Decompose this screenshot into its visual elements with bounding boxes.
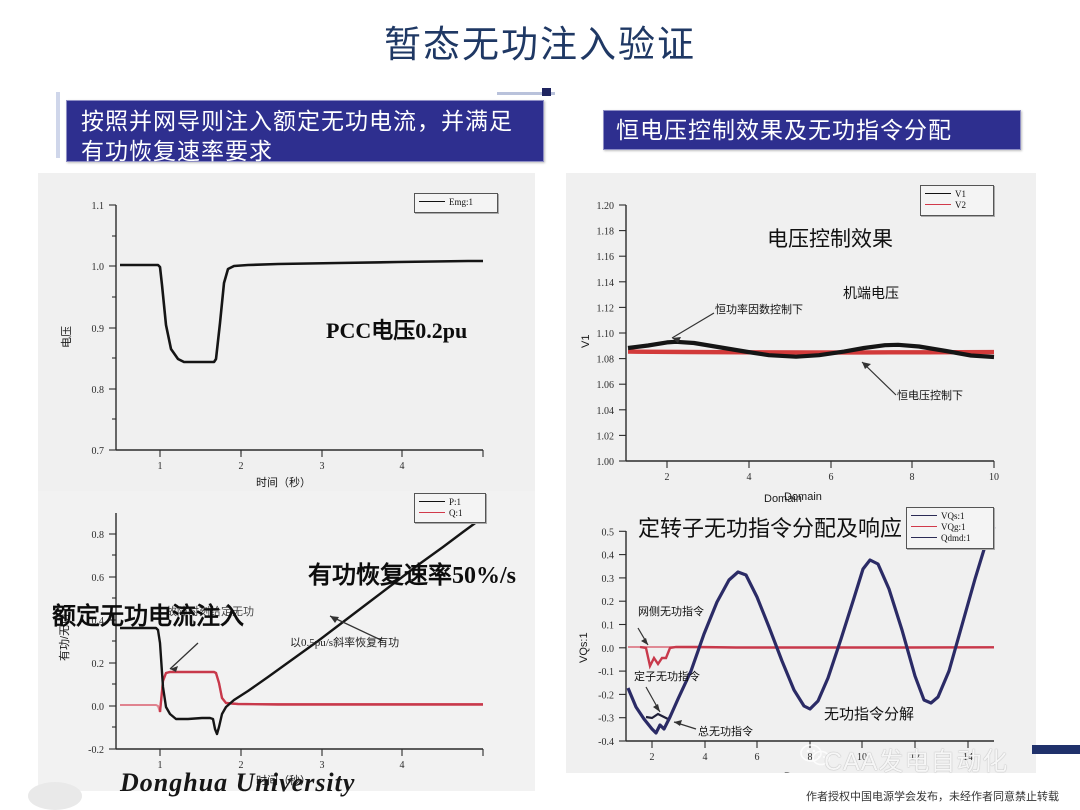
svg-text:-0.2: -0.2 (88, 745, 104, 756)
legend-label-v2: V2 (955, 200, 966, 210)
chart-terminal-voltage-title: 电压控制效果 (767, 223, 893, 253)
banner-left: 按照并网导则注入额定无功电流，并满足有功恢复速率要求 (66, 100, 544, 162)
annotation-ramp-rate: 以0.5pu/s斜率恢复有功 (290, 634, 399, 650)
chart-pq-recovery-svg: -0.2 0.0 0.2 0.4 0.6 0.8 1 2 3 4 (38, 491, 535, 791)
svg-text:0.8: 0.8 (92, 530, 105, 541)
svg-text:0.8: 0.8 (92, 385, 105, 396)
svg-text:4: 4 (703, 752, 708, 763)
legend-label-qdmd: Qdmd:1 (941, 533, 971, 543)
svg-text:1.02: 1.02 (597, 431, 615, 442)
legend-swatch-vqs (911, 515, 937, 516)
legend-label-vqg: VQg:1 (941, 522, 966, 532)
copyright-note: 作者授权中国电源学会发布，未经作者同意禁止转载 (806, 788, 1059, 804)
chart-pcc-voltage-legend[interactable]: Emg:1 (414, 193, 498, 213)
svg-text:4: 4 (400, 461, 405, 472)
chart-pq-recovery-legend[interactable]: P:1 Q:1 (414, 493, 486, 523)
legend-swatch-vqg (911, 526, 937, 527)
svg-text:0.3: 0.3 (602, 574, 615, 585)
svg-text:1.14: 1.14 (597, 278, 615, 289)
svg-text:0.7: 0.7 (92, 446, 105, 457)
chart-q-command-legend[interactable]: VQs:1 VQg:1 Qdmd:1 (906, 507, 994, 549)
svg-text:4: 4 (747, 472, 752, 483)
annotation-rated-q-injection: 额定无功电流注入 (52, 596, 244, 631)
annotation-active-recovery-rate: 有功恢复速率50%/s (308, 555, 516, 590)
annotation-const-pf-control: 恒功率因数控制下 (715, 301, 803, 317)
annotation-terminal-voltage: 机端电压 (843, 283, 899, 303)
university-logo-text: Donghua University (120, 768, 355, 798)
svg-text:0.0: 0.0 (92, 702, 105, 713)
chart-q-command-title: 定转子无功指令分配及响应 (638, 511, 902, 543)
svg-text:1.18: 1.18 (597, 227, 615, 238)
watermark-text: CAA发电自动化 (824, 742, 1008, 778)
svg-text:0.1: 0.1 (602, 621, 615, 632)
legend-swatch-qdmd (911, 537, 937, 538)
svg-text:8: 8 (910, 472, 915, 483)
svg-text:4: 4 (400, 760, 405, 771)
annotation-total-q-cmd: 总无功指令 (698, 723, 753, 739)
slide-root: 暂态无功注入验证 按照并网导则注入额定无功电流，并满足有功恢复速率要求 恒电压控… (0, 0, 1080, 810)
legend-label-emg: Emg:1 (449, 197, 473, 207)
chart-pcc-voltage-ylabel: 电压 (58, 326, 74, 348)
svg-text:1.0: 1.0 (92, 262, 105, 273)
banner-left-accent (56, 92, 60, 158)
legend-label-vqs: VQs:1 (941, 511, 965, 521)
annotation-stator-q-cmd: 定子无功指令 (634, 668, 700, 684)
svg-text:2: 2 (665, 472, 670, 483)
svg-text:0.9: 0.9 (92, 324, 105, 335)
svg-text:1.16: 1.16 (597, 252, 615, 263)
legend-swatch-v2 (925, 204, 951, 205)
svg-text:10: 10 (989, 472, 999, 483)
svg-text:1.1: 1.1 (92, 201, 105, 212)
chart-pcc-voltage-xlabel: 时间（秒） (256, 474, 311, 490)
svg-text:1.08: 1.08 (597, 355, 615, 366)
svg-text:-0.2: -0.2 (598, 690, 614, 701)
legend-swatch-q (419, 512, 445, 513)
legend-swatch-emg (419, 201, 445, 202)
svg-text:0.2: 0.2 (602, 597, 615, 608)
legend-label-p: P:1 (449, 497, 461, 507)
right-chart-panel: 1.00 1.02 1.04 1.06 1.08 1.10 1.12 1.14 … (566, 173, 1036, 773)
svg-text:1.12: 1.12 (597, 303, 615, 314)
legend-swatch-p (419, 501, 445, 502)
svg-text:0.6: 0.6 (92, 573, 105, 584)
annotation-grid-side-q-cmd: 网侧无功指令 (638, 603, 704, 619)
legend-swatch-v1 (925, 193, 951, 194)
svg-text:-0.4: -0.4 (598, 737, 614, 748)
annotation-q-cmd-decomposition: 无功指令分解 (824, 703, 914, 724)
svg-text:0.5: 0.5 (602, 527, 615, 538)
corner-decoration (28, 782, 82, 810)
annotation-pcc-voltage-drop: PCC电压0.2pu (326, 313, 467, 345)
chart-terminal-voltage-xlabel-dup: Domain (764, 493, 802, 505)
chart-terminal-voltage-ylabel: V1 (580, 335, 592, 348)
legend-label-q: Q:1 (449, 508, 463, 518)
svg-text:0.4: 0.4 (602, 551, 615, 562)
svg-text:1.04: 1.04 (597, 406, 615, 417)
chart-pq-recovery: -0.2 0.0 0.2 0.4 0.6 0.8 1 2 3 4 有功/无功 时… (38, 491, 535, 791)
svg-text:-0.3: -0.3 (598, 714, 614, 725)
svg-text:1.00: 1.00 (597, 457, 615, 468)
svg-text:2: 2 (650, 752, 655, 763)
svg-text:1: 1 (158, 461, 163, 472)
svg-text:0.0: 0.0 (602, 644, 615, 655)
chart-q-command-ylabel: VQs:1 (578, 632, 590, 663)
svg-text:1.06: 1.06 (597, 380, 615, 391)
legend-label-v1: V1 (955, 189, 966, 199)
chart-pcc-voltage: 0.7 0.8 0.9 1.0 1.1 1 2 3 4 电压 时间（秒） Emg… (38, 173, 535, 491)
annotation-const-voltage-control: 恒电压控制下 (897, 387, 963, 403)
page-title: 暂态无功注入验证 (0, 14, 1080, 68)
banner-right: 恒电压控制效果及无功指令分配 (603, 110, 1021, 150)
svg-text:-0.1: -0.1 (598, 667, 614, 678)
chart-q-command-xlabel: Dom (784, 771, 808, 773)
svg-text:1.20: 1.20 (597, 201, 615, 212)
svg-text:0.2: 0.2 (92, 659, 105, 670)
chart-terminal-voltage-legend[interactable]: V1 V2 (920, 185, 994, 216)
svg-text:6: 6 (755, 752, 760, 763)
svg-text:2: 2 (239, 461, 244, 472)
svg-text:1.10: 1.10 (597, 329, 615, 340)
svg-text:3: 3 (320, 461, 325, 472)
bottom-accent-bar (1032, 745, 1080, 754)
banner-left-corner-square (542, 88, 551, 96)
svg-text:6: 6 (829, 472, 834, 483)
